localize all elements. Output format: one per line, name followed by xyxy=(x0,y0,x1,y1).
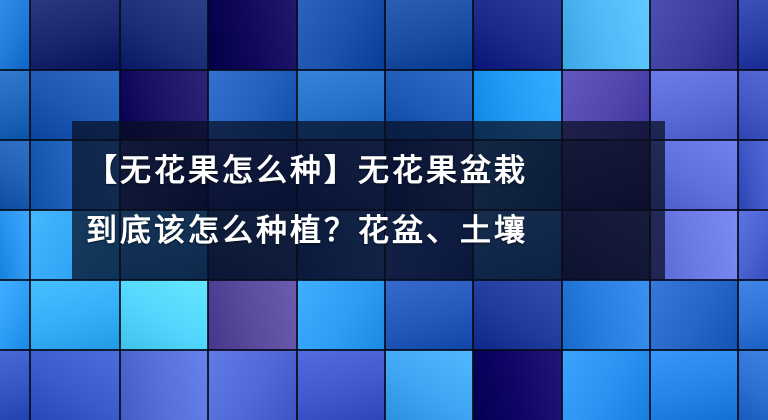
mosaic-tile xyxy=(385,0,473,70)
mosaic-tile xyxy=(208,0,297,70)
headline-line-1: 【无花果怎么种】无花果盆栽 xyxy=(86,141,528,201)
mosaic-tile xyxy=(297,350,385,420)
mosaic-tile xyxy=(738,350,768,420)
mosaic-tile xyxy=(562,280,650,350)
mosaic-tile xyxy=(30,280,120,350)
headline-text-block: 【无花果怎么种】无花果盆栽 到底该怎么种植？花盆、土壤 xyxy=(72,121,665,280)
mosaic-tile xyxy=(297,0,385,70)
mosaic-tile xyxy=(0,70,30,140)
mosaic-tile xyxy=(473,280,562,350)
mosaic-tile xyxy=(120,0,208,70)
headline-line-2: 到底该怎么种植？花盆、土壤 xyxy=(86,201,528,261)
mosaic-tile xyxy=(738,280,768,350)
mosaic-tile xyxy=(208,350,297,420)
mosaic-tile xyxy=(0,350,30,420)
mosaic-tile xyxy=(0,140,30,210)
mosaic-tile xyxy=(385,350,473,420)
mosaic-tile xyxy=(562,350,650,420)
mosaic-tile xyxy=(738,140,768,210)
mosaic-tile xyxy=(650,280,738,350)
mosaic-tile xyxy=(650,350,738,420)
mosaic-tile xyxy=(297,280,385,350)
mosaic-tile xyxy=(473,0,562,70)
mosaic-tile xyxy=(562,0,650,70)
mosaic-tile xyxy=(385,280,473,350)
mosaic-tile xyxy=(650,0,738,70)
image-canvas: 【无花果怎么种】无花果盆栽 到底该怎么种植？花盆、土壤 xyxy=(0,0,768,420)
mosaic-tile xyxy=(473,350,562,420)
mosaic-tile xyxy=(738,210,768,280)
mosaic-tile xyxy=(0,210,30,280)
mosaic-tile xyxy=(208,280,297,350)
mosaic-tile xyxy=(120,280,208,350)
mosaic-tile xyxy=(120,350,208,420)
mosaic-tile xyxy=(738,0,768,70)
mosaic-tile xyxy=(30,0,120,70)
mosaic-tile xyxy=(738,70,768,140)
mosaic-tile xyxy=(0,280,30,350)
mosaic-tile xyxy=(0,0,30,70)
mosaic-tile xyxy=(30,350,120,420)
